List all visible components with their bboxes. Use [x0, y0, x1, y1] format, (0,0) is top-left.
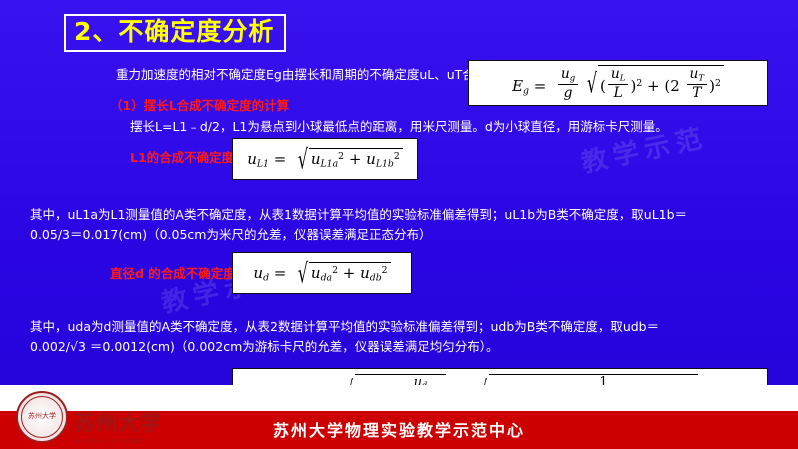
formula-ud-box: ud = uda2 + udb2 — [232, 252, 412, 294]
slide-title: 2、不确定度分析 — [74, 18, 274, 46]
paragraph-section-1: （1）摆长L合成不确定度的计算 — [110, 95, 289, 114]
paragraph-ud-explain-line1: 其中，uda为d测量值的A类不确定度，从表2数据计算平均值的实验标准偏差得到；u… — [30, 318, 659, 336]
formula-ud: ud = uda2 + udb2 — [253, 262, 390, 284]
paragraph-pendulum-length: 摆长L=L1﹣d/2，L1为悬点到小球最低点的距离，用米尺测量。d为小球直径，用… — [130, 118, 668, 136]
paragraph-ul1-explain-line1: 其中，uL1a为L1测量值的A类不确定度，从表1数据计算平均值的实验标准偏差得到… — [30, 206, 687, 224]
paragraph-intro-text: 重力加速度的相对不确定度Eg由摆长和周期的不确定度uL、uT合成得到 — [116, 67, 512, 82]
formula-eg-box: Eg = ugg (uLL)2 + (2 uTT)2 — [468, 60, 768, 106]
slide: 教学示范 教学示范 2、不确定度分析 重力加速度的相对不确定度Eg由摆长和周期的… — [0, 0, 798, 449]
paragraph-intro: 重力加速度的相对不确定度Eg由摆长和周期的不确定度uL、uT合成得到 — [116, 66, 512, 84]
university-seal-icon: 苏州大学 — [16, 391, 68, 443]
paragraph-ud-explain-line2: 0.002/√3 ＝0.0012(cm)（0.002cm为游标卡尺的允差，仪器误… — [30, 338, 499, 356]
paragraph-ul1-explain-line2: 0.05/3＝0.017(cm)（0.05cm为米尺的允差，仪器误差满足正态分布… — [30, 226, 431, 244]
formula-ul1: uL1 = uL1a2 + uL1b2 — [247, 148, 403, 170]
university-seal-text: 苏州大学 — [21, 396, 63, 438]
formula-eg: Eg = ugg (uLL)2 + (2 uTT)2 — [512, 65, 724, 102]
university-name: 苏州大学 — [74, 407, 162, 437]
university-name-english: SOOCHOW UNIVERSITY — [74, 439, 149, 445]
slide-title-box: 2、不确定度分析 — [64, 14, 286, 52]
formula-ul1-box: uL1 = uL1a2 + uL1b2 — [232, 138, 418, 180]
paragraph-ud-intro: 直径d 的合成不确定度为 — [110, 263, 248, 282]
